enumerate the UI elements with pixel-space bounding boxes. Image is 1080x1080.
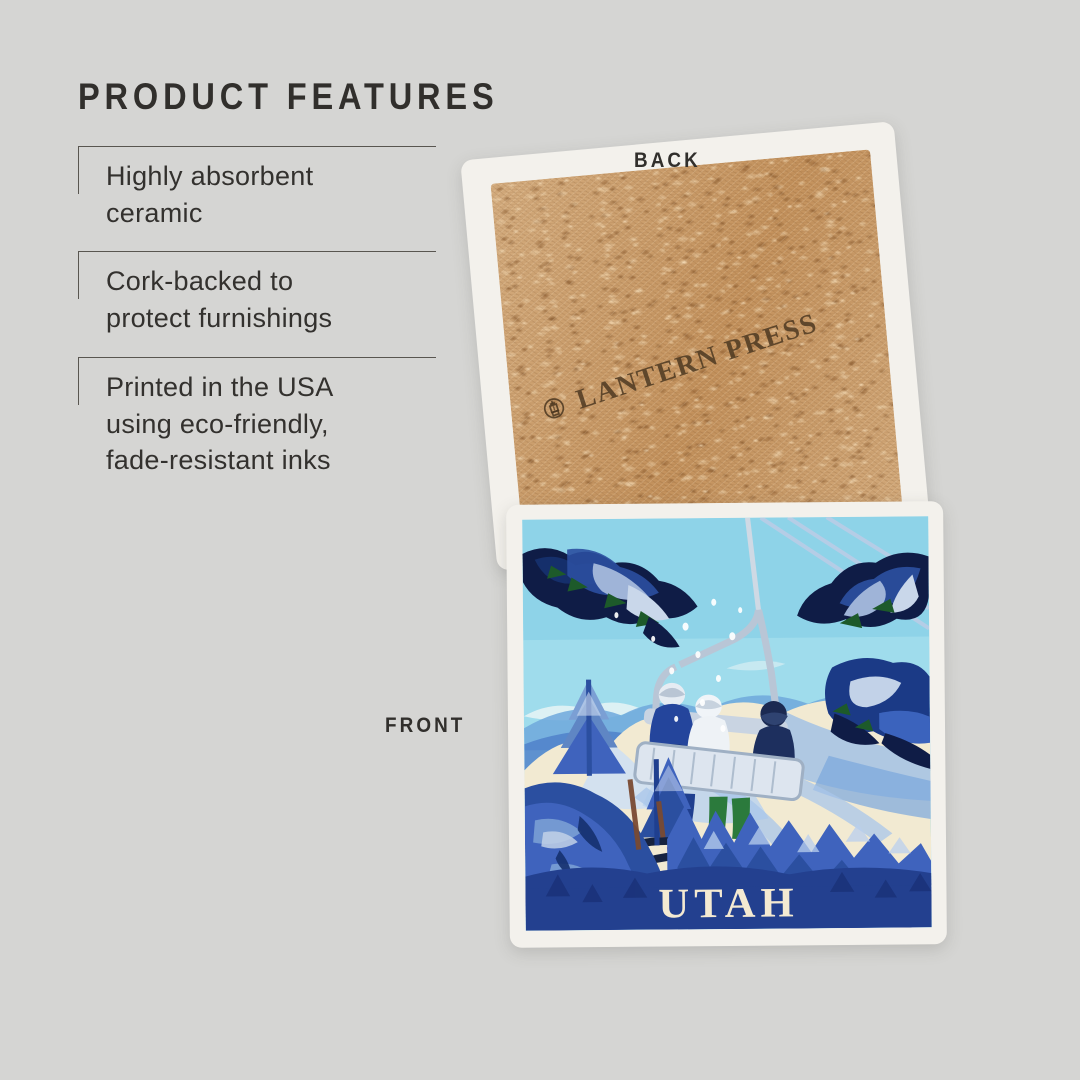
feature-item: Cork-backed to protect furnishings <box>78 251 478 336</box>
feature-bracket-tick <box>78 146 79 194</box>
feature-text: Cork-backed to protect furnishings <box>106 263 431 336</box>
cork-backing: LANTERN PRESS <box>490 149 902 544</box>
front-coaster: UTAH <box>506 501 947 948</box>
feature-divider-rule <box>78 146 436 147</box>
feature-item: Highly absorbent ceramic <box>78 146 478 231</box>
feature-bracket-tick <box>78 357 79 405</box>
feature-divider-rule <box>78 251 436 252</box>
feature-text: Printed in the USA using eco-friendly, f… <box>106 369 431 479</box>
feature-divider-rule <box>78 357 436 358</box>
product-feature-graphic: PRODUCT FEATURES Highly absorbent cerami… <box>0 0 1080 1080</box>
feature-bracket-tick <box>78 251 79 299</box>
label-front: FRONT <box>385 714 465 738</box>
feature-text: Highly absorbent ceramic <box>106 158 431 231</box>
artwork-title: UTAH <box>658 880 799 928</box>
feature-item: Printed in the USA using eco-friendly, f… <box>78 357 478 479</box>
product-features-panel: PRODUCT FEATURES Highly absorbent cerami… <box>78 76 478 499</box>
label-back: BACK <box>634 149 701 173</box>
page-title: PRODUCT FEATURES <box>78 76 430 118</box>
coaster-artwork: UTAH <box>522 516 932 931</box>
ski-lift-poster-illustration: UTAH <box>522 516 932 931</box>
